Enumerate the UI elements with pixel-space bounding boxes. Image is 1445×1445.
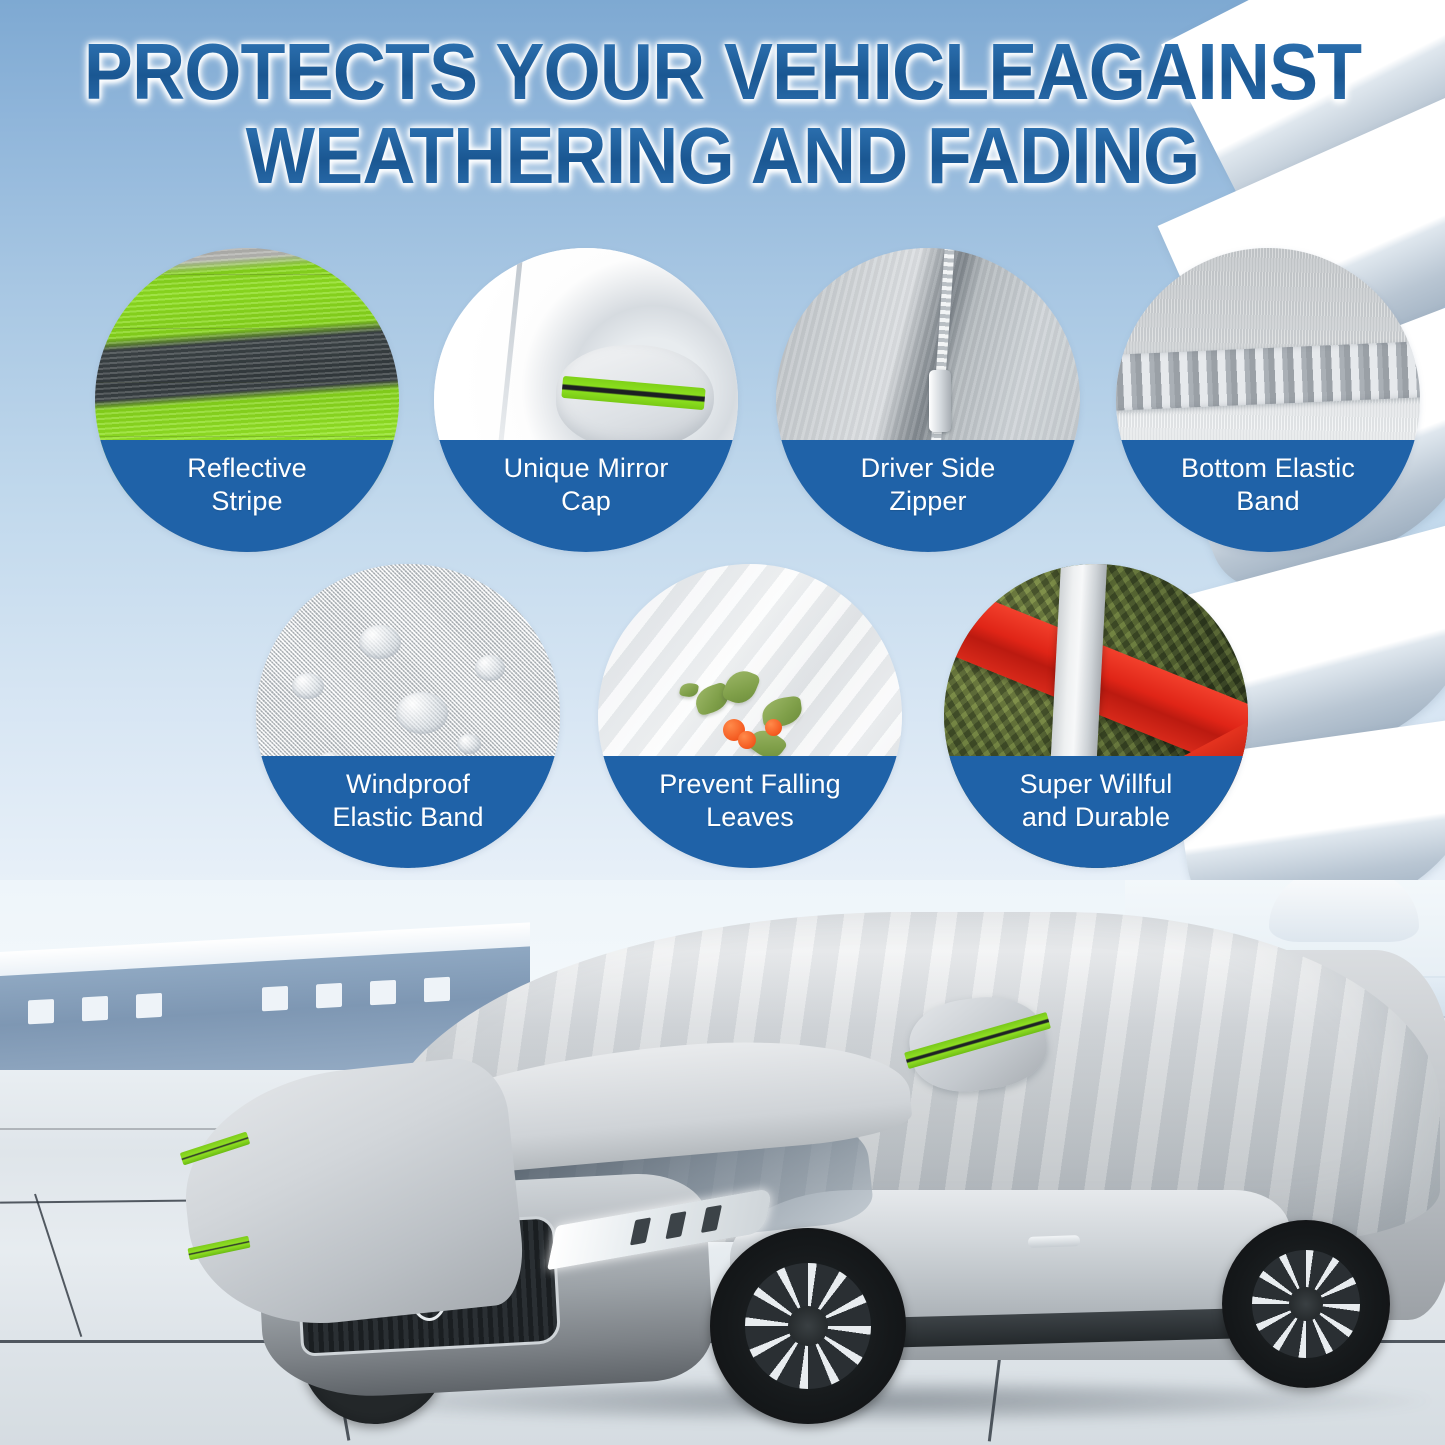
feature-label-line-2: Leaves: [706, 802, 794, 832]
berry-icon: [738, 731, 756, 749]
hero-car-photo: [0, 880, 1445, 1445]
water-bead: [475, 655, 505, 681]
wall-window: [28, 999, 54, 1024]
feature-label-line-1: Bottom Elastic: [1181, 453, 1355, 483]
feature-label-line-1: Super Willful: [1020, 769, 1173, 799]
headline-line-2: WEATHERING AND FADING: [58, 120, 1387, 192]
front-wheel: [710, 1228, 906, 1424]
feature-label-line-1: Windproof: [346, 769, 470, 799]
wheel-hub: [788, 1306, 827, 1345]
feature-label-line-1: Reflective: [187, 453, 307, 483]
feature-label-text: Bottom Elastic Band: [1181, 452, 1355, 518]
feature-label-line-1: Prevent Falling: [659, 769, 841, 799]
rear-wheel: [1222, 1220, 1390, 1388]
feature-label-banner: Super Willful and Durable: [944, 756, 1248, 868]
feature-label-banner: Driver Side Zipper: [776, 440, 1080, 552]
feature-label-banner: Prevent Falling Leaves: [598, 756, 902, 868]
berry-icon: [765, 719, 782, 736]
feature-label-text: Super Willful and Durable: [1020, 768, 1173, 834]
feature-circle-unique-mirror-cap[interactable]: Unique Mirror Cap: [434, 248, 738, 552]
headlight-element: [665, 1211, 686, 1239]
water-bead: [396, 692, 448, 734]
leaf-icon: [720, 666, 761, 709]
feature-label-text: Unique Mirror Cap: [504, 452, 669, 518]
feature-label-text: Reflective Stripe: [187, 452, 307, 518]
headlight-element: [630, 1217, 651, 1245]
feature-label-banner: Windproof Elastic Band: [256, 756, 560, 868]
headline-line-1: PROTECTS YOUR VEHICLEAGAINST: [58, 36, 1387, 108]
feature-circle-bottom-elastic-band[interactable]: Bottom Elastic Band: [1116, 248, 1420, 552]
water-bead: [359, 625, 401, 659]
feature-label-line-2: Elastic Band: [332, 802, 483, 832]
feature-label-line-2: Zipper: [889, 486, 966, 516]
page-title: PROTECTS YOUR VEHICLEAGAINST WEATHERING …: [0, 36, 1445, 192]
feature-circle-reflective-stripe[interactable]: Reflective Stripe: [95, 248, 399, 552]
water-bead: [457, 734, 481, 754]
zipper-pull-icon: [929, 370, 951, 432]
pavement-seam: [34, 1194, 82, 1337]
feature-label-line-2: Cap: [561, 486, 611, 516]
feature-label-banner: Reflective Stripe: [95, 440, 399, 552]
feature-label-text: Driver Side Zipper: [861, 452, 996, 518]
door-handle: [1028, 1235, 1080, 1248]
feature-circle-windproof-elastic-band[interactable]: Windproof Elastic Band: [256, 564, 560, 868]
feature-circle-prevent-falling-leaves[interactable]: Prevent Falling Leaves: [598, 564, 902, 868]
feature-label-line-2: Stripe: [211, 486, 282, 516]
water-bead: [292, 673, 324, 699]
feature-label-line-1: Driver Side: [861, 453, 996, 483]
car-cover-nose: [174, 1053, 528, 1336]
feature-label-banner: Bottom Elastic Band: [1116, 440, 1420, 552]
wheel-hub: [1289, 1287, 1323, 1321]
covered-car: [150, 890, 1380, 1410]
feature-circle-driver-side-zipper[interactable]: Driver Side Zipper: [776, 248, 1080, 552]
feature-label-line-1: Unique Mirror: [504, 453, 669, 483]
feature-label-line-2: Band: [1236, 486, 1299, 516]
feature-label-text: Windproof Elastic Band: [332, 768, 483, 834]
feature-circle-super-willful-and-durable[interactable]: Super Willful and Durable: [944, 564, 1248, 868]
wall-window: [82, 996, 108, 1021]
feature-label-text: Prevent Falling Leaves: [659, 768, 841, 834]
feature-label-line-2: and Durable: [1022, 802, 1170, 832]
headlight-element: [701, 1205, 722, 1233]
mirror-reflective-stripe: [904, 1012, 1051, 1069]
gathered-elastic-band: [1116, 341, 1420, 412]
infographic-poster: PROTECTS YOUR VEHICLEAGAINST WEATHERING …: [0, 0, 1445, 1445]
feature-label-banner: Unique Mirror Cap: [434, 440, 738, 552]
leaf-icon: [679, 681, 699, 698]
